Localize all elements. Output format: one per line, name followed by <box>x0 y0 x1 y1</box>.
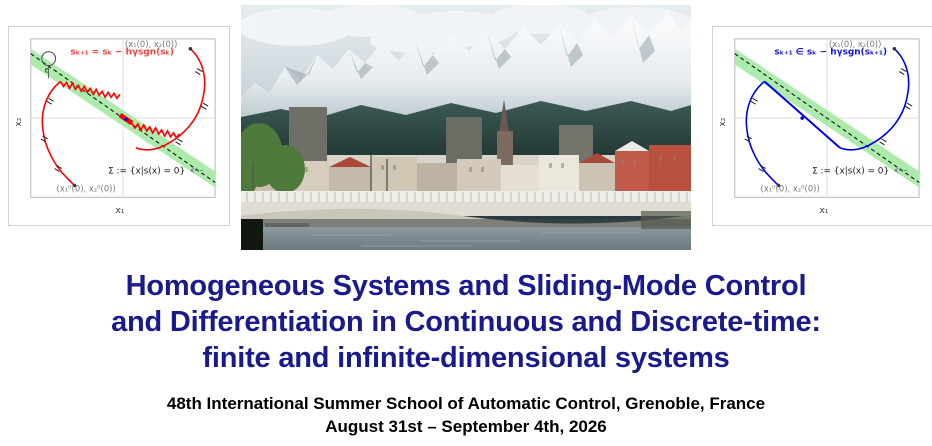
page-subtitle: 48th International Summer School of Auto… <box>0 392 932 438</box>
subtitle-line-1: 48th International Summer School of Auto… <box>0 392 932 415</box>
title-line-2: and Differentiation in Continuous and Di… <box>0 304 932 340</box>
figure-left-sigma-definition: Σ := {x|s(x) = 0} <box>108 167 185 177</box>
figure-right-svg: (x₁(0), x₂(0)) (x₁⁰(0), x₂⁰(0)) sₖ₊₁ ∈ s… <box>713 27 932 225</box>
figure-right-x-axis-label: x₁ <box>820 206 829 216</box>
photo-content <box>241 5 691 250</box>
figure-left-x-axis-label: x₁ <box>116 206 125 216</box>
figure-left-svg: ε (x₁(0), x₂ <box>9 27 229 225</box>
page-title: Homogeneous Systems and Sliding-Mode Con… <box>0 268 932 376</box>
title-line-1: Homogeneous Systems and Sliding-Mode Con… <box>0 268 932 304</box>
figure-implicit-sliding-mode: (x₁(0), x₂(0)) (x₁⁰(0), x₂⁰(0)) sₖ₊₁ ∈ s… <box>712 26 932 226</box>
figure-right-initial-point-dot <box>893 47 897 51</box>
figure-left-y-axis-label: x₂ <box>14 117 24 126</box>
figure-right-second-initial-point-label: (x₁⁰(0), x₂⁰(0)) <box>761 183 820 193</box>
grenoble-photo <box>241 5 691 250</box>
photo-river <box>241 227 691 250</box>
poster-figure-row: ε (x₁(0), x₂ <box>0 0 932 256</box>
figure-left-equation: sₖ₊₁ = sₖ − hγsgn(sₖ) <box>70 48 173 58</box>
photo-right-bank <box>641 211 691 229</box>
grenoble-photo-svg <box>241 5 691 250</box>
figure-right-y-axis-label: x₂ <box>718 117 728 126</box>
figure-right-sigma-definition: Σ := {x|s(x) = 0} <box>812 167 889 177</box>
figure-right-origin-dot <box>800 116 804 120</box>
title-line-3: finite and infinite-dimensional systems <box>0 340 932 376</box>
figure-left-initial-point-dot <box>189 47 193 51</box>
figure-left-second-initial-point-label: (x₁⁰(0), x₂⁰(0)) <box>57 183 116 193</box>
figure-right-equation: sₖ₊₁ ∈ sₖ − hγsgn(sₖ₊₁) <box>774 48 887 58</box>
figure-left-epsilon-label: ε <box>45 66 49 75</box>
photo-left-bank-shadow <box>241 219 263 250</box>
figure-left-origin-dot <box>124 117 128 121</box>
figure-explicit-sliding-mode: ε (x₁(0), x₂ <box>8 26 230 226</box>
subtitle-line-2: August 31st – September 4th, 2026 <box>0 415 932 438</box>
